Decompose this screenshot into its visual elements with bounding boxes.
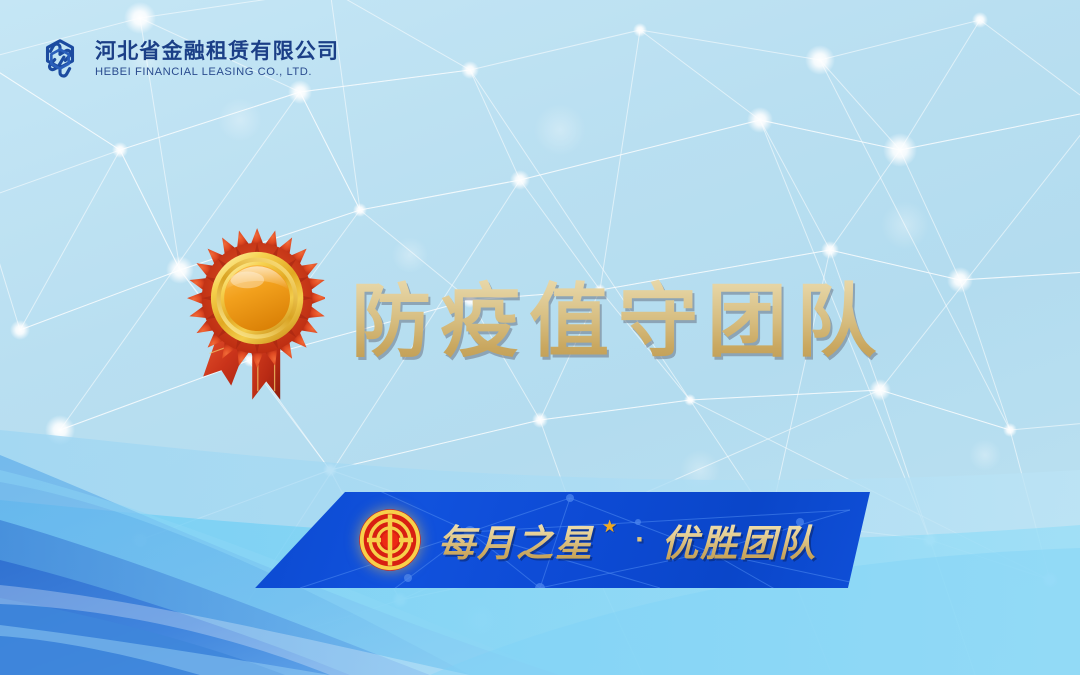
banner-label-right: 优胜团队 [661, 513, 817, 567]
brand-name-english: HEBEI FINANCIAL LEASING CO., LTD. [95, 67, 339, 78]
slide-canvas: 河北省金融租赁有限公司 HEBEI FINANCIAL LEASING CO.,… [0, 0, 1080, 675]
page-title: 防疫值守团队 [347, 257, 885, 373]
trade-union-emblem-icon [358, 508, 422, 572]
award-rosette-ribbon-icon [185, 226, 325, 404]
award-banner: 每月之星 ★ · 优胜团队 [240, 492, 870, 588]
hero-block: 防疫值守团队 [185, 222, 905, 407]
brand-name-chinese: 河北省金融租赁有限公司 [95, 41, 339, 62]
banner-label-left: 每月之星 [438, 513, 594, 567]
banner-separator: · [635, 523, 645, 557]
hebei-financial-leasing-knot-logo-icon [36, 36, 84, 84]
banner-content: 每月之星 ★ · 优胜团队 [240, 492, 870, 588]
brand-lockup: 河北省金融租赁有限公司 HEBEI FINANCIAL LEASING CO.,… [36, 36, 339, 84]
banner-text-block: 每月之星 ★ · 优胜团队 [438, 513, 817, 567]
star-icon: ★ [602, 517, 619, 537]
brand-text-block: 河北省金融租赁有限公司 HEBEI FINANCIAL LEASING CO.,… [95, 41, 339, 78]
